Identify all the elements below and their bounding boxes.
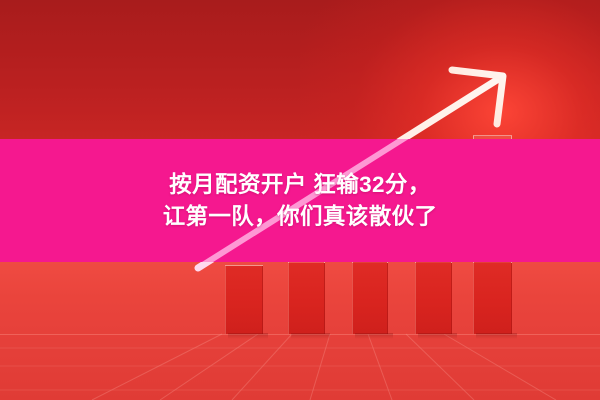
banner-image: 按月配资开户 狂输32分， 讧第一队，你们真该散伙了 — [0, 0, 600, 400]
headline-line-2: 讧第一队，你们真该散伙了 — [163, 204, 438, 229]
headline-text: 按月配资开户 狂输32分， 讧第一队，你们真该散伙了 — [0, 139, 600, 262]
chart-bar — [225, 265, 263, 334]
headline-line-1: 按月配资开户 狂输32分， — [169, 172, 430, 197]
